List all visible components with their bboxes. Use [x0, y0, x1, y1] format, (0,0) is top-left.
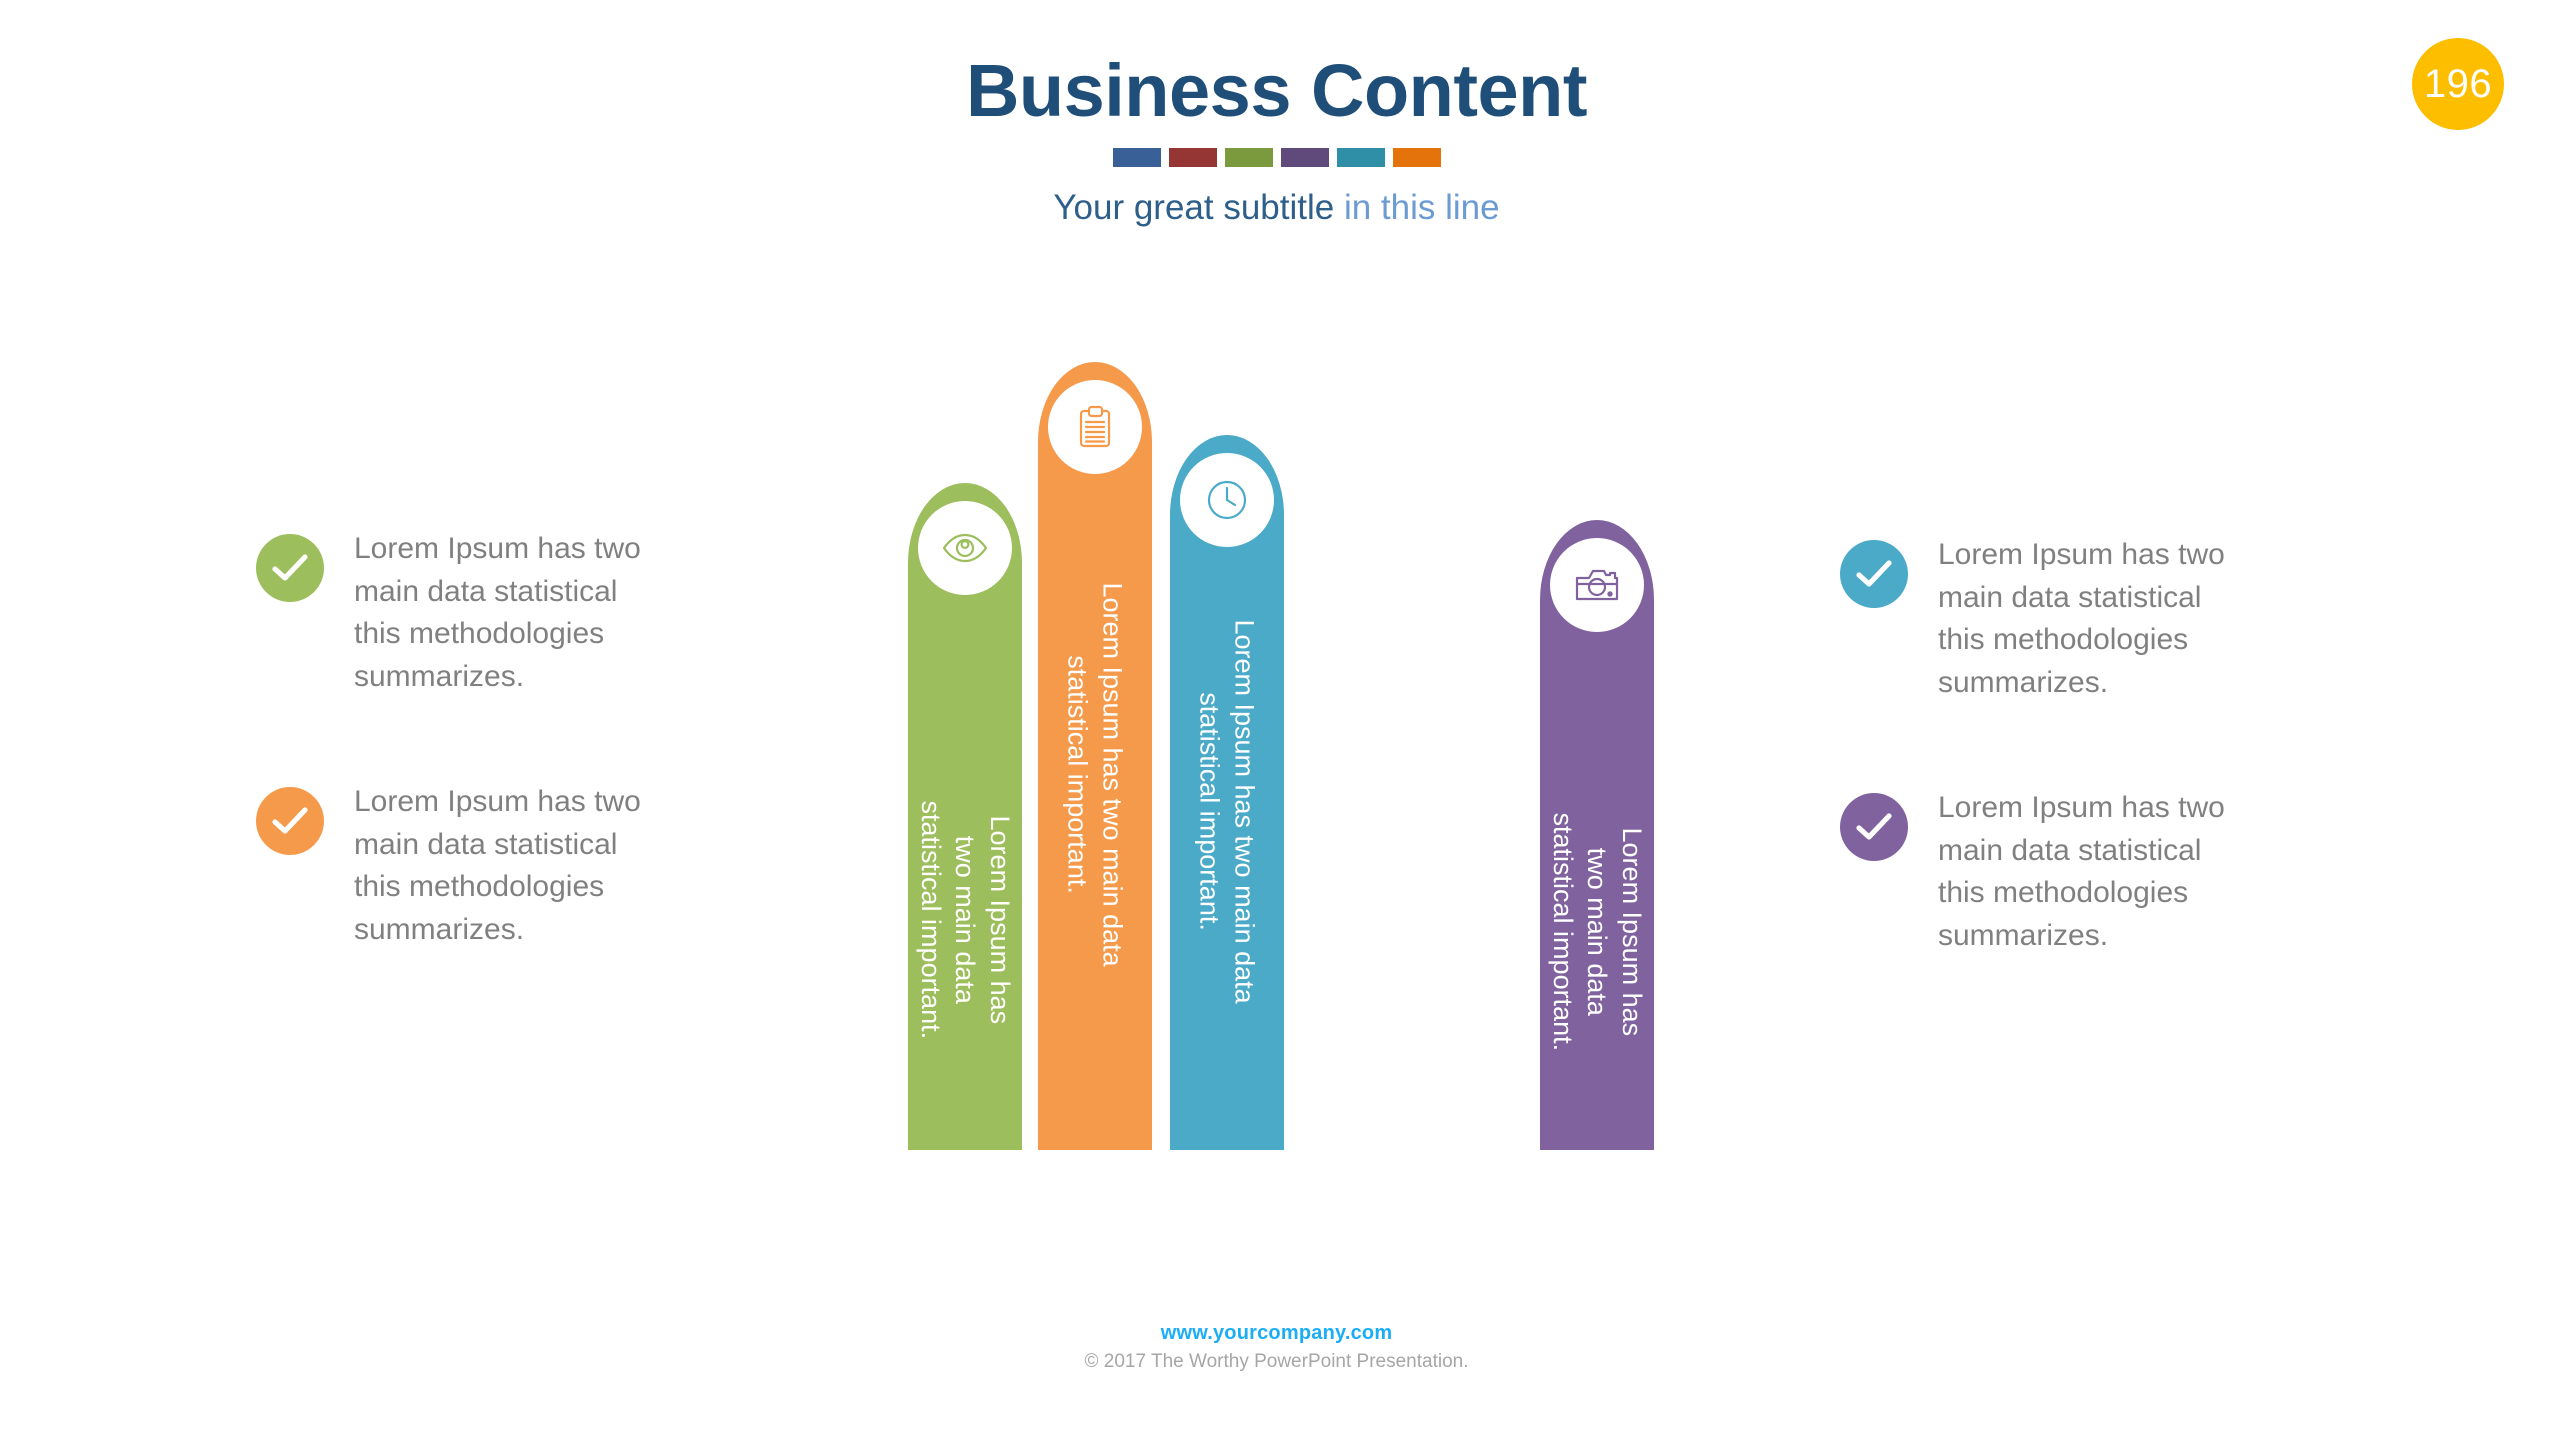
check-icon	[1855, 812, 1893, 842]
bar-orange[interactable]: Lorem Ipsum has two main data statistica…	[1038, 362, 1152, 1150]
bar-purple-label: Lorem Ipsum has two main data statistica…	[1545, 808, 1649, 1056]
swatch-blue	[1113, 148, 1161, 167]
bar-purple-icon-circle	[1550, 538, 1644, 632]
feature-orange-badge	[256, 787, 324, 855]
page-title: Business Content	[0, 52, 2553, 130]
footer-copyright: © 2017 The Worthy PowerPoint Presentatio…	[0, 1351, 2553, 1373]
clipboard-icon	[1077, 405, 1113, 449]
color-swatch-row	[0, 148, 2553, 167]
slide-footer: www.yourcompany.com © 2017 The Worthy Po…	[0, 1322, 2553, 1373]
bar-teal[interactable]: Lorem Ipsum has two main data statistica…	[1170, 435, 1284, 1150]
bar-green[interactable]: Lorem Ipsum has two main data statistica…	[908, 483, 1022, 1150]
feature-green[interactable]: Lorem Ipsum has two main data statistica…	[256, 528, 664, 698]
check-icon	[1855, 559, 1893, 589]
swatch-teal	[1337, 148, 1385, 167]
bar-purple[interactable]: Lorem Ipsum has two main data statistica…	[1540, 520, 1654, 1150]
bar-teal-icon-circle	[1180, 453, 1274, 547]
swatch-red	[1169, 148, 1217, 167]
feature-teal[interactable]: Lorem Ipsum has two main data statistica…	[1840, 534, 2248, 704]
bar-green-icon-circle	[918, 501, 1012, 595]
swatch-orange	[1393, 148, 1441, 167]
feature-teal-text: Lorem Ipsum has two main data statistica…	[1938, 534, 2248, 704]
feature-purple-badge	[1840, 793, 1908, 861]
bar-teal-label: Lorem Ipsum has two main data statistica…	[1192, 604, 1261, 1019]
swatch-green	[1225, 148, 1273, 167]
subtitle-main: Your great subtitle	[1053, 188, 1334, 227]
feature-teal-badge	[1840, 540, 1908, 608]
page-subtitle: Your great subtitle in this line	[0, 187, 2553, 229]
slide-header: Business Content Your great subtitle in …	[0, 0, 2553, 229]
bar-orange-label: Lorem Ipsum has two main data statistica…	[1060, 567, 1129, 982]
subtitle-accent: in this line	[1344, 188, 1500, 227]
bar-orange-icon-circle	[1048, 380, 1142, 474]
swatch-purple	[1281, 148, 1329, 167]
feature-purple[interactable]: Lorem Ipsum has two main data statistica…	[1840, 787, 2248, 957]
check-icon	[271, 806, 309, 836]
feature-green-badge	[256, 534, 324, 602]
eye-icon	[942, 531, 988, 565]
feature-orange[interactable]: Lorem Ipsum has two main data statistica…	[256, 781, 664, 951]
footer-website-link[interactable]: www.yourcompany.com	[0, 1322, 2553, 1345]
feature-orange-text: Lorem Ipsum has two main data statistica…	[354, 781, 664, 951]
feature-green-text: Lorem Ipsum has two main data statistica…	[354, 528, 664, 698]
check-icon	[271, 553, 309, 583]
camera-icon	[1575, 568, 1619, 602]
clock-icon	[1206, 479, 1248, 521]
feature-purple-text: Lorem Ipsum has two main data statistica…	[1938, 787, 2248, 957]
bar-green-label: Lorem Ipsum has two main data statistica…	[913, 796, 1017, 1044]
